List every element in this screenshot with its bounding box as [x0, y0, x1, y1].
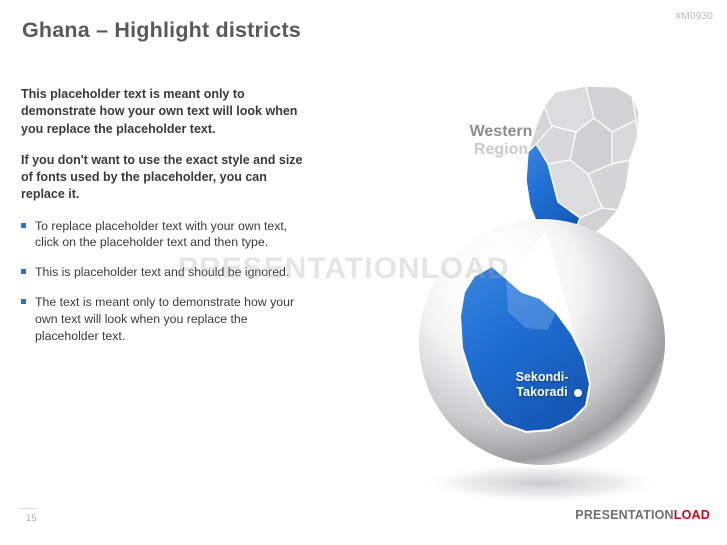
- list-item: To replace placeholder text with your ow…: [21, 218, 304, 252]
- page-title: Ghana – Highlight districts: [22, 18, 301, 43]
- slide: Ghana – Highlight districts #M0930 This …: [0, 0, 727, 545]
- brand-logo: PRESENTATIONLOAD: [575, 508, 710, 522]
- brand-first: PRESENTATION: [575, 508, 673, 522]
- bullet-list: To replace placeholder text with your ow…: [21, 218, 304, 346]
- intro-paragraph-1: This placeholder text is meant only to d…: [21, 86, 304, 138]
- document-code: #M0930: [676, 11, 713, 22]
- list-item-text: This is placeholder text and should be i…: [35, 265, 289, 279]
- list-item: The text is meant only to demonstrate ho…: [21, 294, 304, 345]
- list-item: This is placeholder text and should be i…: [21, 264, 304, 281]
- bullet-marker-icon: [21, 299, 26, 304]
- city-label-line1: Sekondi-: [490, 370, 594, 385]
- city-marker-icon: [574, 389, 582, 397]
- list-item-text: To replace placeholder text with your ow…: [35, 219, 287, 250]
- map-graphic[interactable]: Western Region Sekondi- Takoradi: [380, 40, 727, 510]
- list-item-text: The text is meant only to demonstrate ho…: [35, 295, 294, 343]
- brand-second: LOAD: [674, 508, 710, 522]
- footer-divider: [20, 508, 36, 509]
- region-label-line1: Western: [470, 123, 533, 140]
- bullet-marker-icon: [21, 269, 26, 274]
- sphere-shadow: [422, 463, 662, 503]
- region-label: Western Region: [436, 123, 566, 141]
- region-label-line2: Region: [436, 141, 566, 159]
- page-number: 15: [26, 513, 37, 524]
- ghana-map-svg: [380, 40, 727, 510]
- intro-paragraph-2: If you don't want to use the exact style…: [21, 152, 304, 204]
- bullet-marker-icon: [21, 223, 26, 228]
- text-column: This placeholder text is meant only to d…: [21, 86, 304, 358]
